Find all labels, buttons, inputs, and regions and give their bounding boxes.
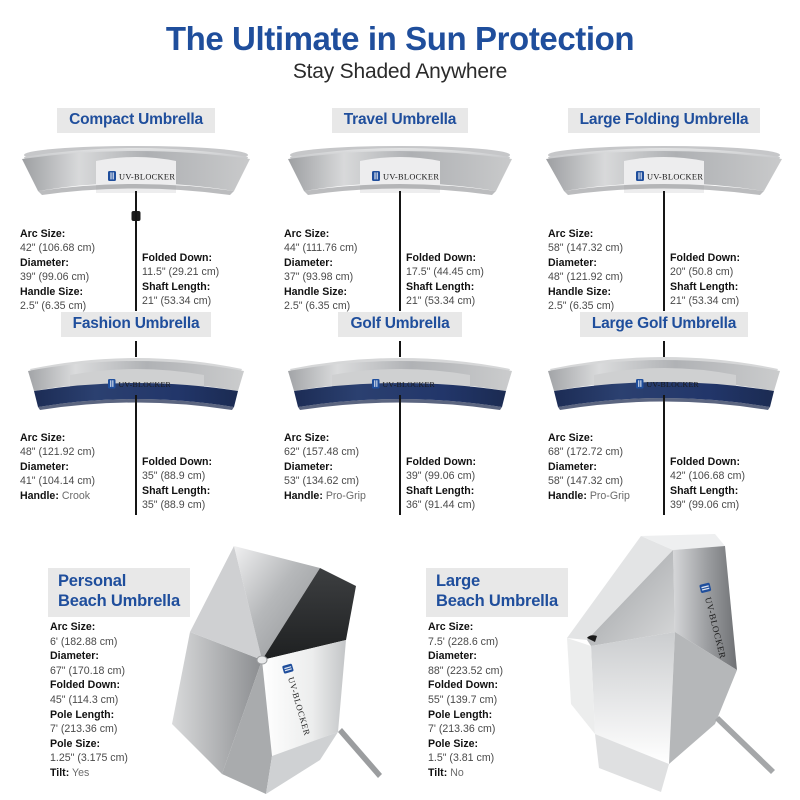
product-name: Travel Umbrella: [332, 108, 468, 133]
arc-size-value: 42" (106.68 cm): [20, 241, 95, 255]
product-name: Personal Beach Umbrella: [48, 568, 190, 617]
diameter-value: 41" (104.14 cm): [20, 474, 95, 488]
spec-block: Arc Size: 42" (106.68 cm) Diameter: 39" …: [8, 227, 264, 319]
arc-size-value: 48" (121.92 cm): [20, 445, 95, 459]
svg-text:UV-BLOCKER: UV-BLOCKER: [383, 173, 439, 182]
divider-line: [663, 191, 665, 311]
svg-text:UV-BLOCKER: UV-BLOCKER: [383, 380, 436, 389]
spec-column-left: Arc Size: 62" (157.48 cm) Diameter: 53" …: [284, 431, 366, 503]
folded-down-label: Folded Down:: [406, 455, 476, 469]
arc-size-value: 7.5' (228.6 cm): [428, 635, 503, 650]
spec-column-left: Arc Size: 68" (172.72 cm) Diameter: 58" …: [548, 431, 630, 503]
arc-size-label: Arc Size:: [548, 227, 623, 241]
arc-size-value: 6' (182.88 cm): [50, 635, 128, 650]
product-name-line2: Beach Umbrella: [436, 592, 558, 612]
folded-down-value: 55" (139.7 cm): [428, 693, 503, 708]
tilt-row: Tilt: No: [428, 766, 503, 781]
shaft-length-value: 21" (53.34 cm): [670, 294, 740, 308]
product-name: Fashion Umbrella: [61, 312, 212, 337]
tilt-row: Tilt: Yes: [50, 766, 128, 781]
spec-block: Arc Size: 62" (157.48 cm) Diameter: 53" …: [272, 431, 528, 523]
folded-down-label: Folded Down:: [428, 678, 503, 693]
tilt-value: Yes: [72, 767, 89, 779]
divider-line: [135, 191, 137, 311]
folded-down-label: Folded Down:: [50, 678, 128, 693]
arc-size-value: 68" (172.72 cm): [548, 445, 630, 459]
arc-size-label: Arc Size:: [428, 620, 503, 635]
tilt-label: Tilt:: [428, 767, 447, 779]
shaft-length-value: 39" (99.06 cm): [670, 498, 745, 512]
diameter-value: 48" (121.92 cm): [548, 270, 623, 284]
product-name: Golf Umbrella: [338, 312, 461, 337]
handle-row: Handle: Pro-Grip: [548, 489, 630, 503]
product-card-large-folding-umbrella[interactable]: Large Folding Umbrella UV-BLOCKER: [536, 108, 792, 313]
product-row-2: Fashion Umbrella: [0, 312, 800, 517]
spec-block: Arc Size: 6' (182.88 cm) Diameter: 67" (…: [50, 620, 128, 781]
arc-size-value: 62" (157.48 cm): [284, 445, 366, 459]
product-name: Large Golf Umbrella: [580, 312, 748, 337]
shaft-length-value: 21" (53.34 cm): [142, 294, 219, 308]
divider-line: [135, 395, 137, 515]
tilt-value: No: [450, 767, 464, 779]
pole-size-label: Pole Size:: [428, 737, 503, 752]
spec-column-left: Arc Size: 48" (121.92 cm) Diameter: 41" …: [20, 431, 95, 503]
handle-value: Pro-Grip: [590, 490, 630, 502]
svg-text:UV-BLOCKER: UV-BLOCKER: [647, 173, 703, 182]
folded-down-value: 17.5" (44.45 cm): [406, 265, 484, 279]
product-name-line1: Personal: [58, 572, 180, 592]
diameter-value: 37" (93.98 cm): [284, 270, 357, 284]
spec-column-right: Folded Down: 42" (106.68 cm) Shaft Lengt…: [670, 455, 745, 513]
header: The Ultimate in Sun Protection Stay Shad…: [0, 0, 800, 84]
handle-size-label: Handle Size:: [548, 285, 623, 299]
handle-value: Pro-Grip: [326, 490, 366, 502]
folded-down-label: Folded Down:: [670, 455, 745, 469]
arc-size-label: Arc Size:: [284, 227, 357, 241]
spec-column-right: Folded Down: 39" (99.06 cm) Shaft Length…: [406, 455, 476, 513]
diameter-label: Diameter:: [548, 460, 630, 474]
product-card-large-golf-umbrella[interactable]: Large Golf Umbrella UV-BLOCKER: [536, 312, 792, 517]
svg-text:UV-BLOCKER: UV-BLOCKER: [119, 380, 172, 389]
spec-column-right: Folded Down: 35" (88.9 cm) Shaft Length:…: [142, 455, 212, 513]
arc-size-label: Arc Size:: [548, 431, 630, 445]
arc-size-label: Arc Size:: [20, 431, 95, 445]
arc-size-value: 44" (111.76 cm): [284, 241, 357, 255]
spec-column-right: Folded Down: 20" (50.8 cm) Shaft Length:…: [670, 251, 740, 309]
shaft-length-value: 21" (53.34 cm): [406, 294, 484, 308]
diameter-value: 53" (134.62 cm): [284, 474, 366, 488]
handle-value: Crook: [62, 490, 90, 502]
handle-size-label: Handle Size:: [20, 285, 95, 299]
product-card-travel-umbrella[interactable]: Travel Umbrella UV-BLOCKER: [272, 108, 528, 313]
arc-size-label: Arc Size:: [20, 227, 95, 241]
diameter-label: Diameter:: [428, 649, 503, 664]
diameter-label: Diameter:: [20, 256, 95, 270]
product-card-personal-beach-umbrella[interactable]: Personal Beach Umbrella Arc Size: 6' (18…: [0, 528, 400, 800]
pole-size-label: Pole Size:: [50, 737, 128, 752]
infographic-page: The Ultimate in Sun Protection Stay Shad…: [0, 0, 800, 800]
shaft-length-label: Shaft Length:: [670, 280, 740, 294]
product-name: Compact Umbrella: [57, 108, 215, 133]
spec-block: Arc Size: 58" (147.32 cm) Diameter: 48" …: [536, 227, 792, 319]
diameter-value: 58" (147.32 cm): [548, 474, 630, 488]
spec-column-left: Arc Size: 58" (147.32 cm) Diameter: 48" …: [548, 227, 623, 313]
shaft-length-label: Shaft Length:: [406, 484, 476, 498]
divider-line: [399, 191, 401, 311]
product-name-line2: Beach Umbrella: [58, 592, 180, 612]
handle-size-label: Handle Size:: [284, 285, 357, 299]
diameter-value: 67" (170.18 cm): [50, 664, 128, 679]
spec-block: Arc Size: 48" (121.92 cm) Diameter: 41" …: [8, 431, 264, 523]
folded-down-value: 20" (50.8 cm): [670, 265, 740, 279]
folded-down-label: Folded Down:: [142, 455, 212, 469]
folded-down-value: 35" (88.9 cm): [142, 469, 212, 483]
diameter-label: Diameter:: [50, 649, 128, 664]
arc-size-label: Arc Size:: [284, 431, 366, 445]
diameter-label: Diameter:: [548, 256, 623, 270]
handle-label: Handle:: [20, 490, 59, 502]
pole-length-value: 7' (213.36 cm): [50, 722, 128, 737]
page-subtitle: Stay Shaded Anywhere: [0, 60, 800, 84]
folded-down-value: 42" (106.68 cm): [670, 469, 745, 483]
pole-length-label: Pole Length:: [50, 708, 128, 723]
divider-line: [663, 395, 665, 515]
spec-block: Arc Size: 7.5' (228.6 cm) Diameter: 88" …: [428, 620, 503, 781]
folded-down-value: 39" (99.06 cm): [406, 469, 476, 483]
spec-column-right: Folded Down: 17.5" (44.45 cm) Shaft Leng…: [406, 251, 484, 309]
arc-size-value: 58" (147.32 cm): [548, 241, 623, 255]
shaft-length-label: Shaft Length:: [142, 280, 219, 294]
handle-row: Handle: Pro-Grip: [284, 489, 366, 503]
arc-size-label: Arc Size:: [50, 620, 128, 635]
pole-length-label: Pole Length:: [428, 708, 503, 723]
product-row-1: Compact Umbrella: [0, 108, 800, 313]
handle-label: Handle:: [284, 490, 323, 502]
pole-length-value: 7' (213.36 cm): [428, 722, 503, 737]
diameter-value: 88" (223.52 cm): [428, 664, 503, 679]
page-title: The Ultimate in Sun Protection: [0, 22, 800, 57]
product-card-large-beach-umbrella[interactable]: Large Beach Umbrella Arc Size: 7.5' (228…: [400, 528, 800, 800]
pole-size-value: 1.25" (3.175 cm): [50, 751, 128, 766]
spec-block: Arc Size: 68" (172.72 cm) Diameter: 58" …: [536, 431, 792, 523]
diameter-label: Diameter:: [284, 460, 366, 474]
divider-line: [399, 395, 401, 515]
svg-text:UV-BLOCKER: UV-BLOCKER: [647, 380, 700, 389]
product-name: Large Folding Umbrella: [568, 108, 761, 133]
handle-label: Handle:: [548, 490, 587, 502]
product-name: Large Beach Umbrella: [426, 568, 568, 617]
diameter-label: Diameter:: [20, 460, 95, 474]
product-card-golf-umbrella[interactable]: Golf Umbrella UV-BLOCKER: [272, 312, 528, 517]
spec-column-right: Folded Down: 11.5" (29.21 cm) Shaft Leng…: [142, 251, 219, 309]
spec-block: Arc Size: 44" (111.76 cm) Diameter: 37" …: [272, 227, 528, 319]
tilt-label: Tilt:: [50, 767, 69, 779]
large-beach-umbrella-image: UV-BLOCKER: [565, 528, 800, 800]
shaft-length-value: 36" (91.44 cm): [406, 498, 476, 512]
folded-down-label: Folded Down:: [670, 251, 740, 265]
shaft-length-label: Shaft Length:: [406, 280, 484, 294]
folded-down-value: 45" (114.3 cm): [50, 693, 128, 708]
shaft-length-label: Shaft Length:: [670, 484, 745, 498]
product-card-compact-umbrella[interactable]: Compact Umbrella: [8, 108, 264, 313]
folded-down-label: Folded Down:: [142, 251, 219, 265]
diameter-label: Diameter:: [284, 256, 357, 270]
handle-row: Handle: Crook: [20, 489, 95, 503]
svg-text:UV-BLOCKER: UV-BLOCKER: [119, 173, 175, 182]
spec-column-left: Arc Size: 42" (106.68 cm) Diameter: 39" …: [20, 227, 95, 313]
folded-down-value: 11.5" (29.21 cm): [142, 265, 219, 279]
pole-size-value: 1.5" (3.81 cm): [428, 751, 503, 766]
product-name-line1: Large: [436, 572, 558, 592]
personal-beach-umbrella-image: UV-BLOCKER: [170, 528, 390, 800]
shaft-length-value: 35" (88.9 cm): [142, 498, 212, 512]
product-card-fashion-umbrella[interactable]: Fashion Umbrella: [8, 312, 264, 517]
folded-down-label: Folded Down:: [406, 251, 484, 265]
spec-column-left: Arc Size: 44" (111.76 cm) Diameter: 37" …: [284, 227, 357, 313]
diameter-value: 39" (99.06 cm): [20, 270, 95, 284]
shaft-length-label: Shaft Length:: [142, 484, 212, 498]
